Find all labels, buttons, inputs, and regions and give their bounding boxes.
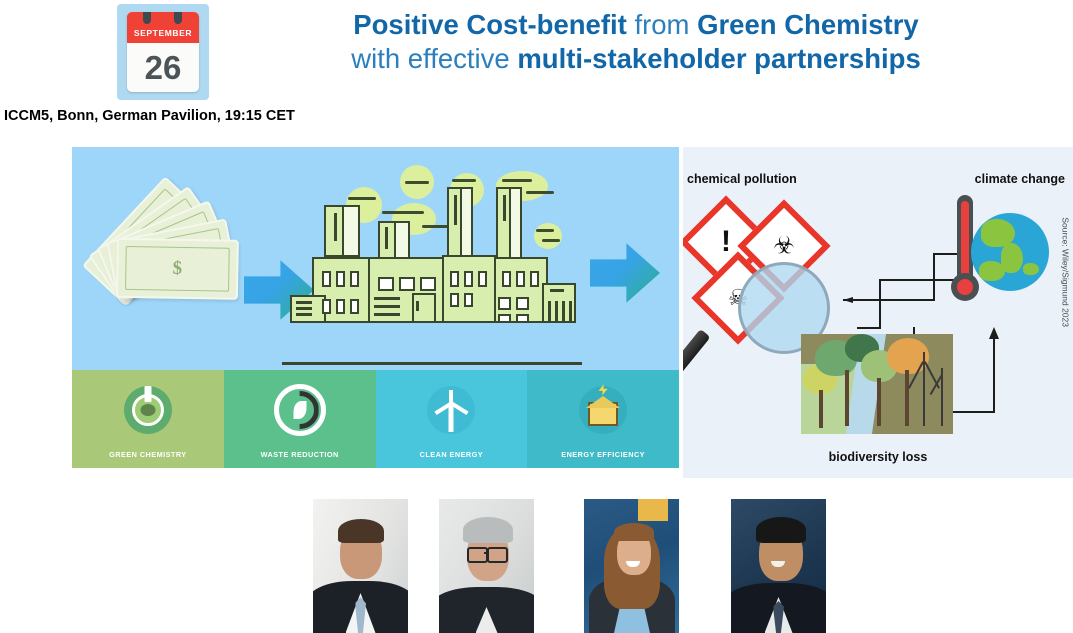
- title-line-2: with effective multi-stakeholder partner…: [236, 42, 1036, 76]
- title-line-1: Positive Cost-benefit from Green Chemist…: [236, 8, 1036, 42]
- calendar-ring-left: [143, 12, 151, 24]
- planetary-boundaries-diagram: chemical pollution climate change biodiv…: [683, 147, 1073, 478]
- benefit-panel-green-chemistry: GREEN CHEMISTRY: [72, 370, 224, 468]
- speaker-portrait-2: [439, 499, 534, 633]
- header: SEPTEMBER 26 Positive Cost-benefit from …: [0, 0, 1073, 103]
- benefit-label-waste-reduction: WASTE REDUCTION: [224, 450, 376, 459]
- benefit-panel-clean-energy: CLEAN ENERGY: [376, 370, 528, 468]
- efficient-house-icon: [579, 386, 627, 434]
- earth-globe-icon: [971, 213, 1049, 291]
- dollar-symbol: $: [172, 258, 182, 280]
- wind-turbine-icon: [427, 386, 475, 434]
- benefit-label-clean-energy: CLEAN ENERGY: [376, 450, 528, 459]
- title-seg-green-chemistry: Green Chemistry: [697, 9, 919, 40]
- calendar-ring-right: [174, 12, 182, 24]
- label-chemical-pollution: chemical pollution: [687, 172, 797, 186]
- page-title: Positive Cost-benefit from Green Chemist…: [236, 8, 1036, 76]
- magnifying-glass-handle: [683, 329, 711, 385]
- flask-globe-icon: [124, 386, 172, 434]
- speaker-portrait-1: [313, 499, 408, 633]
- event-subtitle: ICCM5, Bonn, German Pavilion, 19:15 CET: [4, 108, 295, 124]
- speaker-portrait-3: [584, 499, 679, 633]
- green-chemistry-investment-illustration: $: [72, 147, 679, 468]
- recycle-arrows-icon: [276, 386, 324, 434]
- title-seg-from: from: [634, 9, 697, 40]
- label-biodiversity-loss: biodiversity loss: [829, 450, 928, 464]
- benefit-panel-energy-efficiency: ENERGY EFFICIENCY: [527, 370, 679, 468]
- calendar-september-26-icon: SEPTEMBER 26: [117, 4, 209, 100]
- green-factory-icon: [282, 165, 582, 365]
- calendar-body: SEPTEMBER 26: [127, 12, 199, 92]
- source-attribution: Source: Wiley/Sigmund 2023: [1061, 217, 1071, 327]
- title-seg-positive-cost-benefit: Positive Cost-benefit: [353, 9, 634, 40]
- calendar-day-label: 26: [127, 46, 199, 90]
- benefit-panel-strip: GREEN CHEMISTRY WASTE REDUCTION CLEAN EN…: [72, 370, 679, 468]
- calendar-month-label: SEPTEMBER: [127, 28, 199, 38]
- title-seg-partnerships: multi-stakeholder partnerships: [517, 43, 920, 74]
- stack-of-dollar-bills-icon: $: [82, 202, 257, 327]
- benefit-panel-waste-reduction: WASTE REDUCTION: [224, 370, 376, 468]
- title-seg-with-effective: with effective: [351, 43, 517, 74]
- benefit-label-green-chemistry: GREEN CHEMISTRY: [72, 450, 224, 459]
- right-arrow-icon: [590, 242, 660, 304]
- exclamation-glyph: !: [721, 225, 731, 259]
- health-hazard-glyph: ☣: [773, 232, 795, 261]
- benefit-label-energy-efficiency: ENERGY EFFICIENCY: [527, 450, 679, 459]
- forest-river-icon: [801, 334, 953, 434]
- label-climate-change: climate change: [975, 172, 1065, 186]
- speaker-portrait-4: [731, 499, 826, 633]
